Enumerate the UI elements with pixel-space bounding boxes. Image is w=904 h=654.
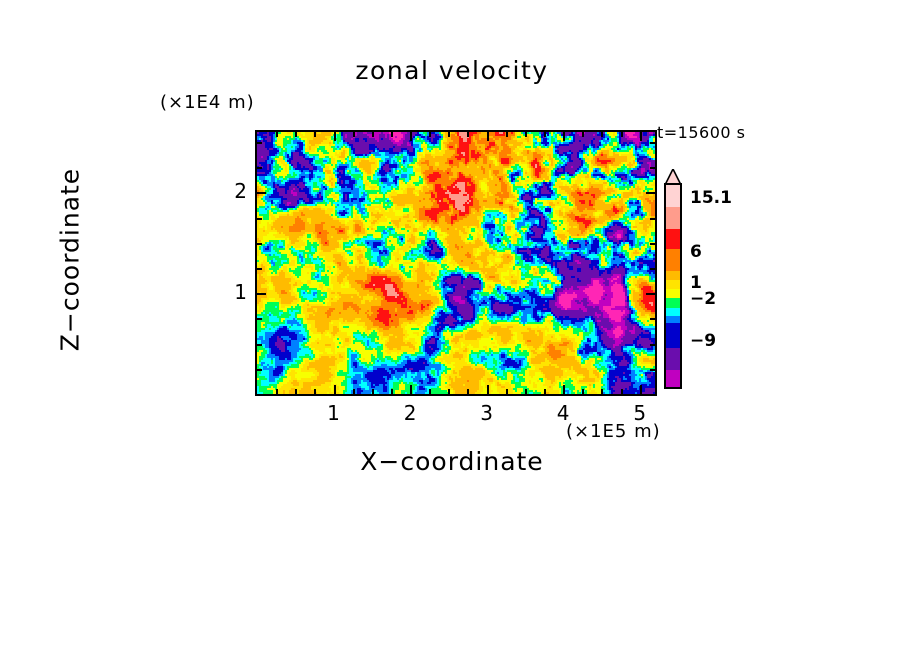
x-minor-tick bbox=[429, 389, 431, 394]
y-minor-tick bbox=[257, 243, 262, 245]
y-major-tick bbox=[257, 192, 266, 194]
x-major-tick-top bbox=[563, 132, 565, 141]
x-minor-tick-top bbox=[601, 132, 603, 137]
x-minor-tick bbox=[295, 389, 297, 394]
x-major-tick bbox=[334, 385, 336, 394]
y-minor-tick-right bbox=[650, 218, 655, 220]
x-minor-tick bbox=[506, 389, 508, 394]
colorbar-tick-label: −9 bbox=[690, 331, 716, 351]
y-minor-tick-right bbox=[650, 142, 655, 144]
contour-plot-area[interactable] bbox=[255, 130, 657, 396]
x-minor-tick-top bbox=[391, 132, 393, 137]
x-minor-tick bbox=[448, 389, 450, 394]
x-minor-tick bbox=[601, 389, 603, 394]
x-minor-tick bbox=[372, 389, 374, 394]
x-major-tick bbox=[640, 385, 642, 394]
x-minor-tick bbox=[582, 389, 584, 394]
x-minor-tick-top bbox=[621, 132, 623, 137]
colorbar-band bbox=[666, 280, 680, 289]
velocity-field-heatmap bbox=[257, 132, 655, 394]
x-minor-tick-top bbox=[353, 132, 355, 137]
y-major-tick bbox=[257, 293, 266, 295]
y-minor-tick bbox=[257, 318, 262, 320]
x-minor-tick bbox=[621, 389, 623, 394]
x-minor-tick-top bbox=[276, 132, 278, 137]
x-major-tick bbox=[487, 385, 489, 394]
y-tick-label: 2 bbox=[207, 179, 247, 203]
colorbar-tick-label: 15.1 bbox=[690, 188, 732, 208]
x-minor-tick-top bbox=[525, 132, 527, 137]
colorbar-band bbox=[666, 308, 680, 316]
x-minor-tick-top bbox=[467, 132, 469, 137]
y-minor-tick bbox=[257, 369, 262, 371]
x-minor-tick-top bbox=[372, 132, 374, 137]
y-minor-tick-right bbox=[650, 268, 655, 270]
x-minor-tick bbox=[314, 389, 316, 394]
x-major-tick-top bbox=[334, 132, 336, 141]
x-minor-tick-top bbox=[544, 132, 546, 137]
x-minor-tick-top bbox=[314, 132, 316, 137]
colorbar[interactable] bbox=[664, 183, 682, 389]
colorbar-band bbox=[666, 316, 680, 323]
colorbar-band bbox=[666, 370, 680, 389]
y-minor-tick-right bbox=[650, 318, 655, 320]
x-major-tick bbox=[563, 385, 565, 394]
x-minor-tick-top bbox=[448, 132, 450, 137]
y-axis-title: Z−coordinate bbox=[56, 130, 85, 390]
colorbar-band bbox=[666, 229, 680, 249]
y-minor-tick bbox=[257, 167, 262, 169]
chart-title: zonal velocity bbox=[0, 56, 904, 85]
colorbar-band bbox=[666, 185, 680, 207]
x-minor-tick bbox=[391, 389, 393, 394]
colorbar-band bbox=[666, 298, 680, 308]
x-minor-tick-top bbox=[506, 132, 508, 137]
y-minor-tick-right bbox=[650, 369, 655, 371]
x-minor-tick bbox=[276, 389, 278, 394]
colorbar-tick-label: −2 bbox=[690, 289, 716, 309]
y-minor-tick-right bbox=[650, 344, 655, 346]
colorbar-band bbox=[666, 271, 680, 280]
y-minor-tick bbox=[257, 344, 262, 346]
x-tick-label: 3 bbox=[467, 401, 507, 425]
x-major-tick bbox=[410, 385, 412, 394]
colorbar-band bbox=[666, 323, 680, 348]
x-tick-label: 2 bbox=[390, 401, 430, 425]
colorbar-band bbox=[666, 289, 680, 298]
x-major-tick-top bbox=[487, 132, 489, 141]
y-minor-tick bbox=[257, 268, 262, 270]
colorbar-tick-label: 6 bbox=[690, 242, 702, 262]
x-axis-unit-label: (×1E5 m) bbox=[566, 421, 661, 442]
x-minor-tick-top bbox=[582, 132, 584, 137]
colorbar-band bbox=[666, 348, 680, 370]
y-minor-tick bbox=[257, 218, 262, 220]
y-axis-unit-label: (×1E4 m) bbox=[160, 92, 255, 113]
x-axis-title: X−coordinate bbox=[0, 447, 904, 476]
x-tick-label: 1 bbox=[314, 401, 354, 425]
x-minor-tick bbox=[467, 389, 469, 394]
y-tick-label: 1 bbox=[207, 280, 247, 304]
x-major-tick-top bbox=[640, 132, 642, 141]
time-stamp-label: t=15600 s bbox=[657, 123, 746, 142]
y-major-tick-right bbox=[646, 293, 655, 295]
colorbar-band bbox=[666, 249, 680, 271]
x-minor-tick-top bbox=[295, 132, 297, 137]
colorbar-band bbox=[666, 207, 680, 229]
y-minor-tick-right bbox=[650, 243, 655, 245]
x-minor-tick bbox=[544, 389, 546, 394]
x-major-tick-top bbox=[410, 132, 412, 141]
y-major-tick-right bbox=[646, 192, 655, 194]
x-minor-tick-top bbox=[429, 132, 431, 137]
y-minor-tick-right bbox=[650, 167, 655, 169]
x-minor-tick bbox=[525, 389, 527, 394]
y-minor-tick bbox=[257, 142, 262, 144]
x-minor-tick bbox=[353, 389, 355, 394]
